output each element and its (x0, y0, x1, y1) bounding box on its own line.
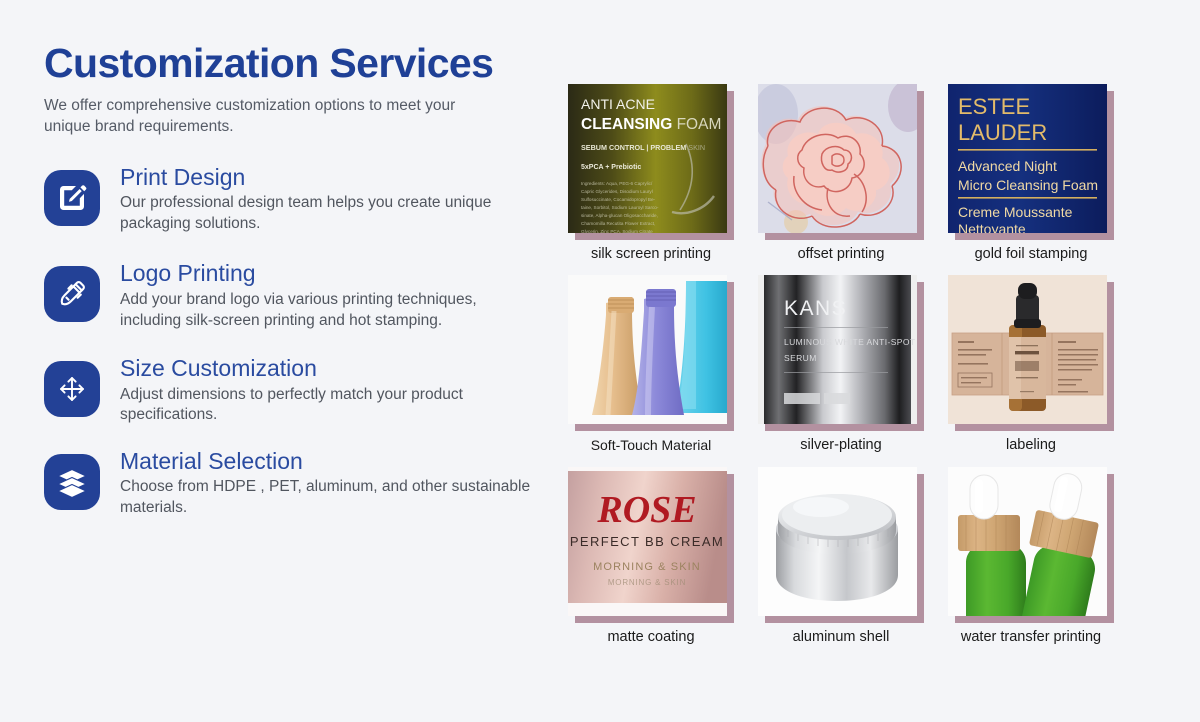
feature-body: Material Selection Choose from HDPE , PE… (120, 448, 540, 519)
feature-list: Print Design Our professional design tea… (44, 164, 549, 519)
svg-text:MORNING & SKIN: MORNING & SKIN (608, 578, 686, 587)
gallery-caption: Soft-Touch Material (568, 437, 734, 454)
gallery-item[interactable]: water transfer printing (948, 467, 1120, 646)
feature-item-size-customization[interactable]: Size Customization Adjust dimensions to … (44, 355, 549, 426)
thumbnail-silver-plating: KANS LUMINOUS WHITE ANTI-SPOT SERUM (758, 275, 917, 424)
arrows-four-direction-icon (44, 361, 100, 417)
gallery-caption: labeling (948, 437, 1114, 454)
svg-text:Nettoyante: Nettoyante (958, 221, 1026, 233)
gallery-caption: water transfer printing (948, 629, 1114, 646)
technique-gallery-grid: ANTI ACNE CLEANSING FOAM SEBUM CONTROL |… (568, 84, 1120, 646)
gallery-item[interactable]: offset printing (758, 84, 930, 263)
svg-text:Capric Glycerides, Disodium La: Capric Glycerides, Disodium Lauryl (581, 189, 653, 194)
edit-pencil-square-icon (44, 170, 100, 226)
svg-text:ANTI ACNE: ANTI ACNE (581, 96, 655, 112)
svg-text:PERFECT BB CREAM: PERFECT BB CREAM (570, 534, 724, 549)
page-subtitle: We offer comprehensive customization opt… (44, 95, 494, 138)
thumbnail-wrapper: KANS LUMINOUS WHITE ANTI-SPOT SERUM (758, 275, 924, 431)
svg-text:Sulfosuccinate, Cocamidopropyl: Sulfosuccinate, Cocamidopropyl Be- (581, 197, 656, 202)
gallery-caption: matte coating (568, 629, 734, 646)
feature-title: Logo Printing (120, 260, 540, 286)
gallery-caption: silver-plating (758, 437, 924, 454)
feature-title: Material Selection (120, 448, 540, 474)
gallery-caption: offset printing (758, 246, 924, 263)
gallery-item[interactable]: ESTEE LAUDER Advanced Night Micro Cleans… (948, 84, 1120, 263)
svg-text:MORNING & SKIN: MORNING & SKIN (593, 561, 701, 573)
svg-text:ROSE: ROSE (596, 489, 696, 531)
pen-brush-icon (44, 266, 100, 322)
thumbnail-wrapper (758, 467, 924, 623)
thumbnail-wrapper (948, 275, 1114, 431)
thumbnail-offset-printing (758, 84, 917, 233)
svg-text:Advanced Night: Advanced Night (958, 158, 1057, 174)
feature-body: Size Customization Adjust dimensions to … (120, 355, 540, 426)
thumbnail-wrapper: ROSE PERFECT BB CREAM MORNING & SKIN MOR… (568, 467, 734, 623)
svg-text:5xPCA + Prebiotic: 5xPCA + Prebiotic (581, 164, 641, 171)
gallery-item[interactable]: KANS LUMINOUS WHITE ANTI-SPOT SERUM silv… (758, 275, 930, 454)
gallery-caption: aluminum shell (758, 629, 924, 646)
layers-stack-icon (44, 454, 100, 510)
thumbnail-wrapper: ESTEE LAUDER Advanced Night Micro Cleans… (948, 84, 1114, 240)
thumbnail-gold-foil-stamping: ESTEE LAUDER Advanced Night Micro Cleans… (948, 84, 1107, 233)
thumbnail-water-transfer-printing (948, 467, 1107, 616)
feature-item-logo-printing[interactable]: Logo Printing Add your brand logo via va… (44, 260, 549, 331)
left-content-column: Customization Services We offer comprehe… (44, 42, 549, 518)
feature-description: Adjust dimensions to perfectly match you… (120, 385, 540, 426)
thumbnail-wrapper (948, 467, 1114, 623)
svg-text:Glycerin, Zinc PCA, Sodium Cit: Glycerin, Zinc PCA, Sodium Citrate (581, 229, 653, 233)
thumbnail-wrapper (758, 84, 924, 240)
thumbnail-silk-screen-printing: ANTI ACNE CLEANSING FOAM SEBUM CONTROL |… (568, 84, 727, 233)
gallery-caption: gold foil stamping (948, 246, 1114, 263)
svg-text:Chamomilla Recutita Flower Ext: Chamomilla Recutita Flower Extract, (581, 221, 655, 226)
svg-text:LAUDER: LAUDER (958, 120, 1047, 145)
feature-description: Choose from HDPE , PET, aluminum, and ot… (120, 477, 540, 518)
thumbnail-aluminum-shell (758, 467, 917, 616)
svg-text:taine, Sorbitol, Sodium Lauroy: taine, Sorbitol, Sodium Lauroyl Sarco- (581, 205, 659, 210)
customization-services-page: Customization Services We offer comprehe… (0, 0, 1200, 722)
svg-text:sinate, Alpha-glucan Oligosacc: sinate, Alpha-glucan Oligosaccharide, (581, 213, 658, 218)
svg-text:Ingredients: Aqua, PEG-6 Capry: Ingredients: Aqua, PEG-6 Caprylic/ (581, 181, 653, 186)
gallery-caption: silk screen printing (568, 246, 734, 263)
thumbnail-matte-coating: ROSE PERFECT BB CREAM MORNING & SKIN MOR… (568, 467, 727, 616)
gallery-item[interactable]: aluminum shell (758, 467, 930, 646)
feature-item-print-design[interactable]: Print Design Our professional design tea… (44, 164, 549, 235)
svg-text:LUMINOUS WHITE ANTI-SPOT: LUMINOUS WHITE ANTI-SPOT (784, 337, 915, 347)
gallery-item[interactable]: ROSE PERFECT BB CREAM MORNING & SKIN MOR… (568, 467, 740, 646)
feature-body: Logo Printing Add your brand logo via va… (120, 260, 540, 331)
feature-title: Print Design (120, 164, 540, 190)
svg-text:KANS: KANS (784, 297, 847, 320)
feature-description: Add your brand logo via various printing… (120, 290, 540, 331)
feature-item-material-selection[interactable]: Material Selection Choose from HDPE , PE… (44, 448, 549, 519)
gallery-item[interactable]: labeling (948, 275, 1120, 454)
svg-text:CLEANSING FOAM: CLEANSING FOAM (581, 116, 721, 133)
svg-text:SERUM: SERUM (784, 353, 817, 363)
feature-title: Size Customization (120, 355, 540, 381)
thumbnail-wrapper: ANTI ACNE CLEANSING FOAM SEBUM CONTROL |… (568, 84, 734, 240)
gallery-item[interactable]: ANTI ACNE CLEANSING FOAM SEBUM CONTROL |… (568, 84, 740, 263)
page-title: Customization Services (44, 42, 549, 85)
feature-body: Print Design Our professional design tea… (120, 164, 540, 235)
thumbnail-soft-touch-material (568, 275, 727, 424)
thumbnail-wrapper (568, 275, 734, 431)
gallery-item[interactable]: Soft-Touch Material (568, 275, 740, 454)
thumbnail-labeling (948, 275, 1107, 424)
feature-description: Our professional design team helps you c… (120, 193, 540, 234)
svg-text:Micro Cleansing Foam: Micro Cleansing Foam (958, 177, 1098, 193)
svg-text:Creme Moussante: Creme Moussante (958, 204, 1073, 220)
svg-text:ESTEE: ESTEE (958, 94, 1030, 119)
